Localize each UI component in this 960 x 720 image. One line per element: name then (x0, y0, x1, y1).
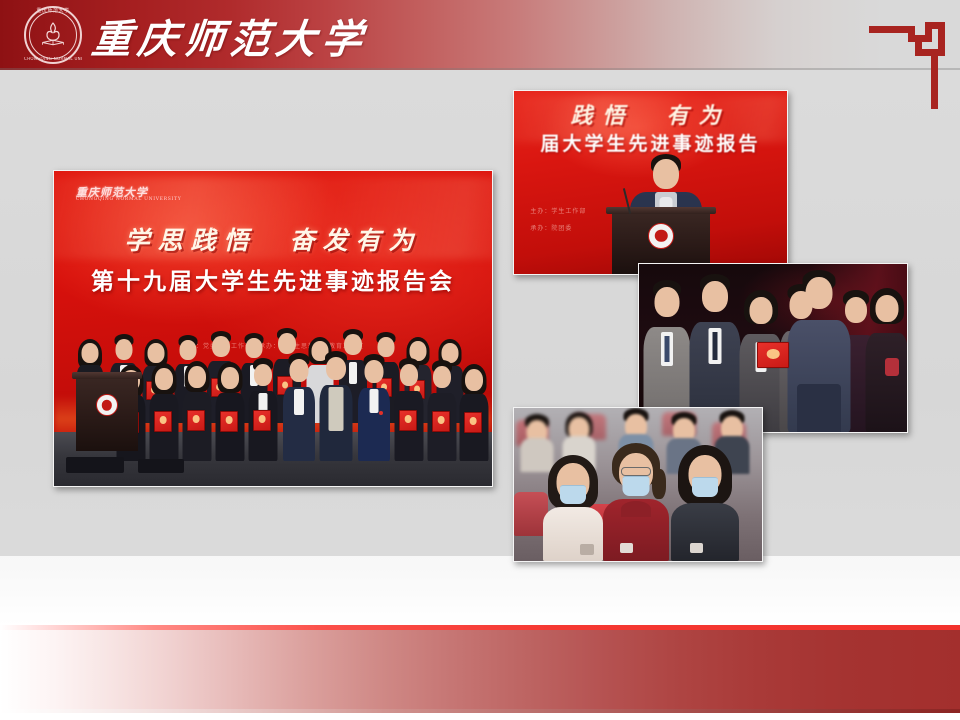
backdrop-event-title: 第十九届大学生先进事迹报告会 (54, 262, 492, 296)
photo-audience-seated (513, 407, 763, 562)
header-band: 重庆师范大学 CHONGQING NORMAL UNIVERSITY 重庆师范大… (0, 0, 960, 70)
audience-student-1 (542, 455, 604, 561)
speaker-backdrop-title: 届大学生先进事迹报告 (514, 129, 787, 156)
seal-ring-bottom-text: CHONGQING NORMAL UNIVERSITY (24, 57, 82, 61)
speaker-backdrop-slogan: 践悟 有为 (514, 98, 787, 130)
footer-white-area (0, 556, 960, 625)
audience-student-2 (602, 443, 670, 561)
backdrop-university-logo: 重庆师范大学 CHONGQING NORMAL UNIVERSITY (76, 187, 181, 203)
university-seal-icon: 重庆师范大学 CHONGQING NORMAL UNIVERSITY (24, 6, 82, 64)
backdrop-logo-en: CHONGQING NORMAL UNIVERSITY (76, 198, 181, 203)
photo-group-award-ceremony: 重庆师范大学 CHONGQING NORMAL UNIVERSITY 学思践悟 … (53, 170, 493, 487)
footer-base-strip (0, 713, 960, 720)
footer-accent-line (0, 625, 960, 630)
seal-ring-top-text: 重庆师范大学 (24, 9, 82, 14)
award-certificate (757, 342, 789, 368)
presentation-slide: 重庆师范大学 CHONGQING NORMAL UNIVERSITY 重庆师范大… (0, 0, 960, 720)
award-person-6 (865, 288, 908, 432)
speaker-backdrop-org-2: 承办：院团委 (530, 223, 572, 232)
footer-gradient-band (0, 630, 960, 713)
audience-student-3 (670, 445, 740, 561)
ceremony-podium (76, 377, 138, 451)
backdrop-slogan: 学思践悟 奋发有为 (54, 221, 492, 257)
university-name-title: 重庆师范大学 (89, 7, 371, 65)
chinese-meander-corner-icon-top-right (867, 8, 947, 113)
award-presenter (787, 272, 851, 432)
speaker-backdrop-org-1: 主办：学生工作部 (530, 206, 586, 215)
seal-flame-book-glyph (38, 20, 68, 50)
photo-speaker-at-podium: 践悟 有为 届大学生先进事迹报告 主办：学生工作部 承办：院团委 (513, 90, 788, 275)
